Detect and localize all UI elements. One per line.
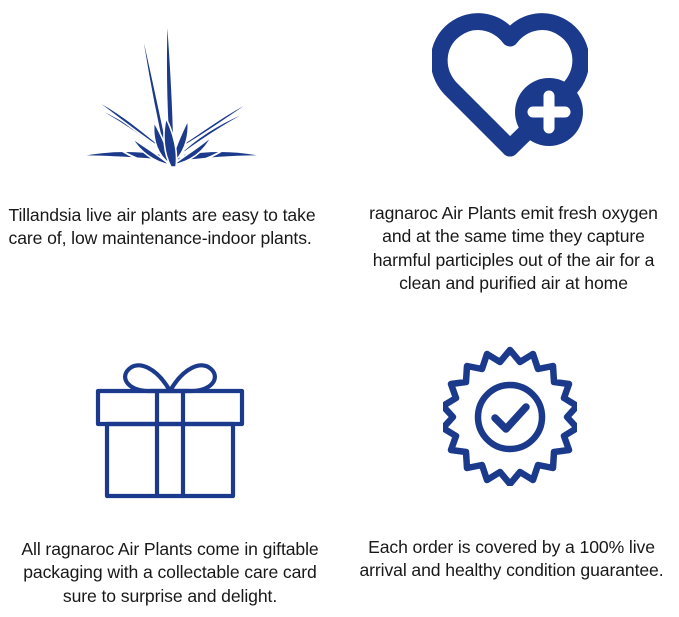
feature-cell-air-plant-care: Tillandsia live air plants are easy to t…	[0, 0, 340, 318]
feature-caption-giftable-packaging: All ragnaroc Air Plants come in giftable…	[8, 538, 332, 608]
feature-cell-giftable-packaging: All ragnaroc Air Plants come in giftable…	[0, 318, 340, 617]
feature-cell-fresh-oxygen: ragnaroc Air Plants emit fresh oxygen an…	[340, 0, 679, 318]
feature-caption-fresh-oxygen: ragnaroc Air Plants emit fresh oxygen an…	[353, 202, 675, 296]
air-plant-icon-wrap	[0, 4, 340, 176]
feature-caption-air-plant-care: Tillandsia live air plants are easy to t…	[4, 204, 337, 251]
air-plant-icon	[70, 4, 270, 172]
heart-plus-icon	[432, 8, 588, 160]
feature-cell-live-arrival-guarantee: Each order is covered by a 100% live arr…	[340, 318, 679, 617]
feature-grid: Tillandsia live air plants are easy to t…	[0, 0, 679, 617]
verified-badge-icon-wrap	[340, 346, 679, 506]
gift-box-icon	[81, 344, 259, 500]
verified-badge-icon	[443, 346, 577, 486]
heart-plus-icon-wrap	[340, 8, 679, 178]
gift-box-icon-wrap	[0, 344, 340, 516]
feature-caption-live-arrival-guarantee: Each order is covered by a 100% live arr…	[351, 536, 673, 583]
